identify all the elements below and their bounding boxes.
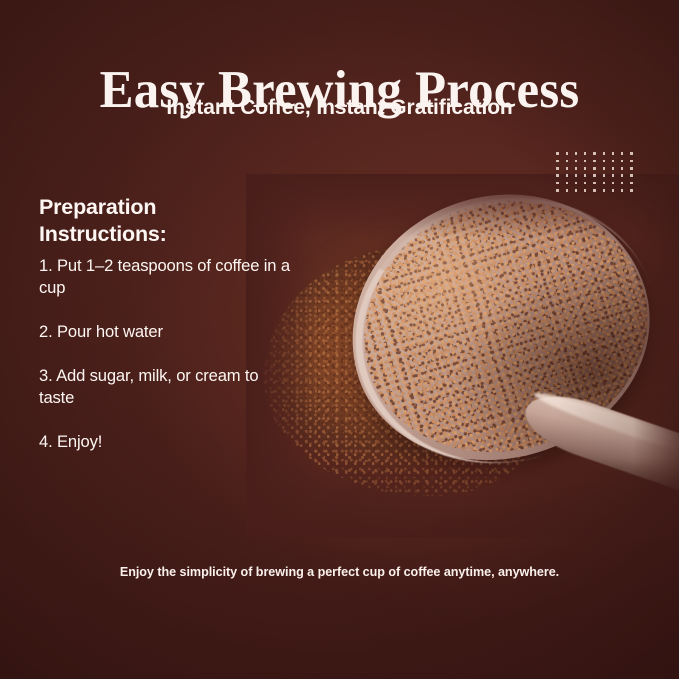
dot — [621, 167, 623, 169]
dot — [566, 174, 568, 176]
poster-canvas: Easy Brewing Process Instant Coffee, Ins… — [0, 0, 679, 679]
dot — [612, 167, 614, 169]
dot — [566, 160, 568, 162]
dot — [556, 189, 558, 191]
dot — [556, 174, 558, 176]
dot — [630, 182, 632, 184]
preparation-steps-list: 1. Put 1–2 teaspoons of coffee in a cup2… — [39, 255, 297, 453]
dot — [575, 174, 577, 176]
dot — [593, 152, 595, 154]
dot — [603, 160, 605, 162]
dot — [603, 167, 605, 169]
dot — [612, 174, 614, 176]
dot — [593, 167, 595, 169]
dot — [621, 182, 623, 184]
coffee-spoon-photo — [258, 186, 679, 526]
dot — [630, 160, 632, 162]
dot — [556, 152, 558, 154]
dot — [566, 167, 568, 169]
dot — [630, 167, 632, 169]
dot — [612, 160, 614, 162]
dot — [593, 189, 595, 191]
dot — [603, 182, 605, 184]
dot — [556, 182, 558, 184]
preparation-step: 3. Add sugar, milk, or cream to taste — [39, 365, 297, 409]
preparation-step: 1. Put 1–2 teaspoons of coffee in a cup — [39, 255, 297, 299]
page-subtitle: Instant Coffee, Instant Gratification — [0, 96, 679, 120]
dot — [621, 189, 623, 191]
dot-grid-decoration — [553, 150, 636, 194]
dot — [575, 189, 577, 191]
dot — [566, 152, 568, 154]
dot — [603, 174, 605, 176]
dot — [630, 152, 632, 154]
dot — [603, 189, 605, 191]
dot — [603, 152, 605, 154]
dot — [566, 189, 568, 191]
preparation-step: 4. Enjoy! — [39, 431, 297, 453]
dot — [566, 182, 568, 184]
dot — [575, 182, 577, 184]
dot — [575, 167, 577, 169]
dot — [621, 174, 623, 176]
dot — [584, 152, 586, 154]
dot — [630, 174, 632, 176]
footer-note: Enjoy the simplicity of brewing a perfec… — [0, 564, 679, 582]
dot — [593, 182, 595, 184]
dot — [584, 167, 586, 169]
dot — [612, 189, 614, 191]
preparation-step: 2. Pour hot water — [39, 321, 297, 343]
dot — [584, 182, 586, 184]
dot — [575, 152, 577, 154]
dot — [621, 152, 623, 154]
dot — [556, 167, 558, 169]
dot — [612, 182, 614, 184]
dot — [556, 160, 558, 162]
dot — [584, 174, 586, 176]
dot — [584, 160, 586, 162]
dot — [584, 189, 586, 191]
section-heading-preparation: Preparation Instructions: — [39, 194, 289, 248]
dot — [621, 160, 623, 162]
dot — [575, 160, 577, 162]
dot — [630, 189, 632, 191]
dot — [593, 174, 595, 176]
dot — [612, 152, 614, 154]
dot — [593, 160, 595, 162]
